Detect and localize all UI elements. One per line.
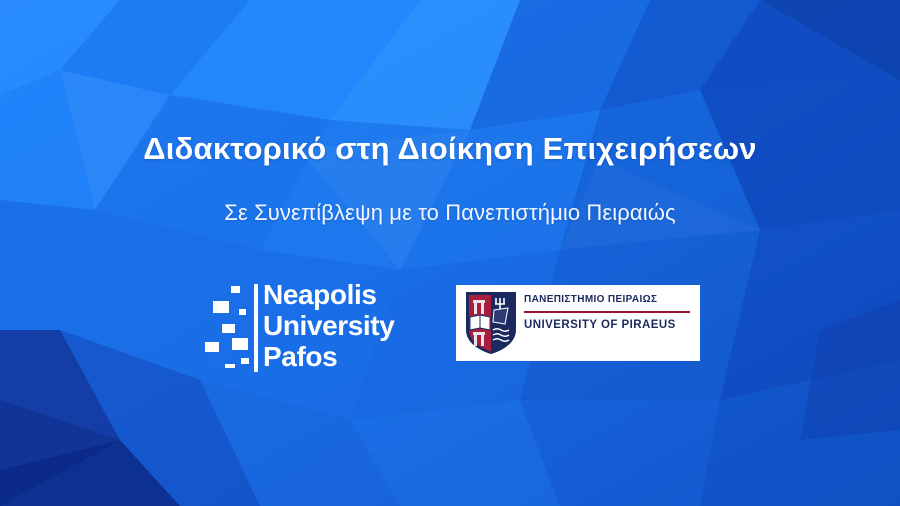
neapolis-line-2: University bbox=[263, 310, 394, 341]
piraeus-divider-rule bbox=[524, 311, 690, 313]
pixel-mosaic-icon bbox=[205, 282, 251, 372]
university-of-piraeus-logo: ΠΑΝΕΠΙΣΤΗΜΙΟ ΠΕΙΡΑΙΩΣ UNIVERSITY OF PIRA… bbox=[456, 285, 700, 361]
piraeus-name-greek: ΠΑΝΕΠΙΣΤΗΜΙΟ ΠΕΙΡΑΙΩΣ bbox=[524, 294, 692, 305]
neapolis-university-logo: Neapolis University Pafos bbox=[205, 282, 420, 380]
page-title: Διδακτορικό στη Διοίκηση Επιχειρήσεων bbox=[0, 131, 900, 167]
piraeus-wordmark: ΠΑΝΕΠΙΣΤΗΜΙΟ ΠΕΙΡΑΙΩΣ UNIVERSITY OF PIRA… bbox=[524, 294, 692, 331]
neapolis-wordmark: Neapolis University Pafos bbox=[263, 279, 394, 372]
neapolis-line-1: Neapolis bbox=[263, 279, 394, 310]
logo-divider-bar bbox=[254, 284, 258, 372]
piraeus-name-english: UNIVERSITY OF PIRAEUS bbox=[524, 319, 692, 331]
neapolis-line-3: Pafos bbox=[263, 341, 394, 372]
slide-content: Διδακτορικό στη Διοίκηση Επιχειρήσεων Σε… bbox=[0, 0, 900, 506]
piraeus-crest-icon bbox=[464, 290, 518, 356]
slide-canvas: Διδακτορικό στη Διοίκηση Επιχειρήσεων Σε… bbox=[0, 0, 900, 506]
page-subtitle: Σε Συνεπίβλεψη με το Πανεπιστήμιο Πειραι… bbox=[0, 200, 900, 226]
